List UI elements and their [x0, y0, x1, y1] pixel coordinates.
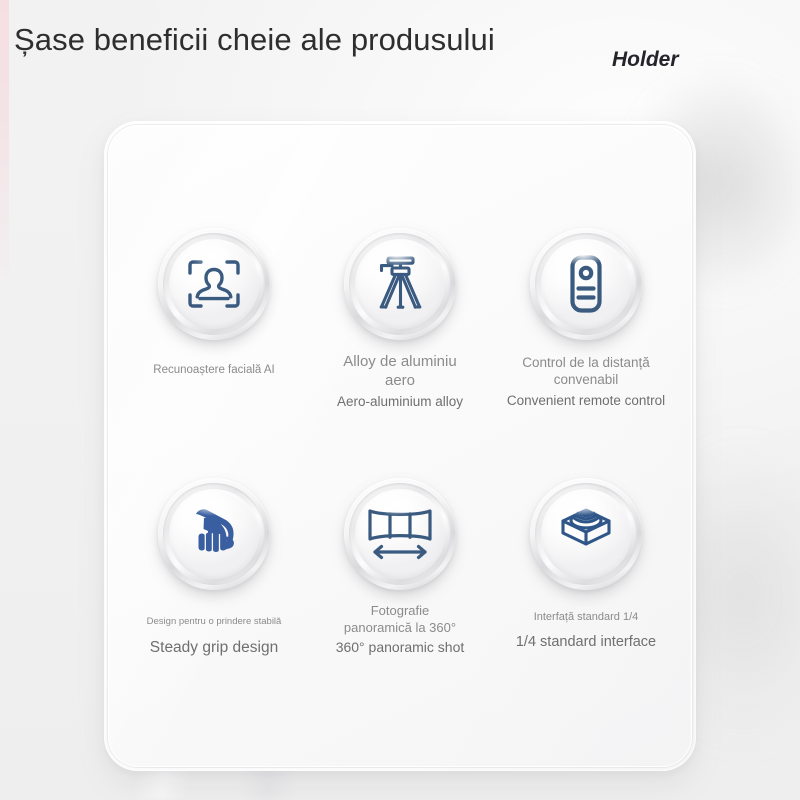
feature-button[interactable]: [344, 478, 456, 590]
feature-item-standard-interface[interactable]: Interfață standard 1/4 1/4 standard inte…: [497, 478, 675, 652]
remote-control-icon: [564, 254, 608, 314]
feature-label-en: Steady grip design: [125, 638, 303, 658]
feature-item-remote-control[interactable]: Control de la distanță convenabil Conven…: [497, 228, 675, 409]
feature-button[interactable]: [158, 478, 270, 590]
feature-grid: Recunoaștere facială AI: [104, 121, 696, 771]
brand-label: Holder: [612, 48, 679, 72]
feature-label-en: Convenient remote control: [497, 392, 675, 409]
feature-button[interactable]: [158, 228, 270, 340]
feature-button[interactable]: [530, 228, 642, 340]
feature-label-en: 360° panoramic shot: [311, 639, 489, 657]
feature-item-face-recognition[interactable]: Recunoaștere facială AI: [125, 228, 303, 378]
feature-label-ro: Design pentru o prindere stabilă: [125, 616, 303, 628]
feature-label-en: Aero-aluminium alloy: [311, 393, 489, 410]
feature-button[interactable]: [530, 478, 642, 590]
feature-label-ro: Alloy de aluminiu aero: [311, 352, 489, 390]
header: Șase beneficii cheie ale produsului Hold…: [0, 0, 800, 105]
face-recognition-icon: [186, 258, 242, 310]
button-face: [355, 489, 445, 579]
feature-label-ro: Fotografie panoramică la 360°: [311, 603, 489, 636]
feature-item-aluminium-alloy[interactable]: Alloy de aluminiu aero Aero-aluminium al…: [311, 228, 489, 411]
feature-item-panoramic-shot[interactable]: Fotografie panoramică la 360° 360° panor…: [311, 478, 489, 657]
page-title: Șase beneficii cheie ale produsului: [14, 22, 495, 58]
feature-item-steady-grip[interactable]: Design pentru o prindere stabilă Steady …: [125, 478, 303, 658]
button-face: [169, 239, 259, 329]
button-face: [169, 489, 259, 579]
button-face: [355, 239, 445, 329]
feature-card: Recunoaștere facială AI: [104, 121, 696, 771]
hex-nut-icon: [555, 506, 617, 562]
panoramic-shot-icon: [366, 507, 434, 561]
feature-button[interactable]: [344, 228, 456, 340]
button-face: [541, 489, 631, 579]
gripping-hand-icon: [184, 505, 244, 563]
tripod-icon: [371, 254, 429, 314]
feature-label-ro: Recunoaștere facială AI: [125, 363, 303, 378]
feature-label-en: 1/4 standard interface: [497, 633, 675, 652]
feature-label-ro: Control de la distanță convenabil: [497, 354, 675, 389]
button-face: [541, 239, 631, 329]
feature-label-ro: Interfață standard 1/4: [497, 610, 675, 624]
